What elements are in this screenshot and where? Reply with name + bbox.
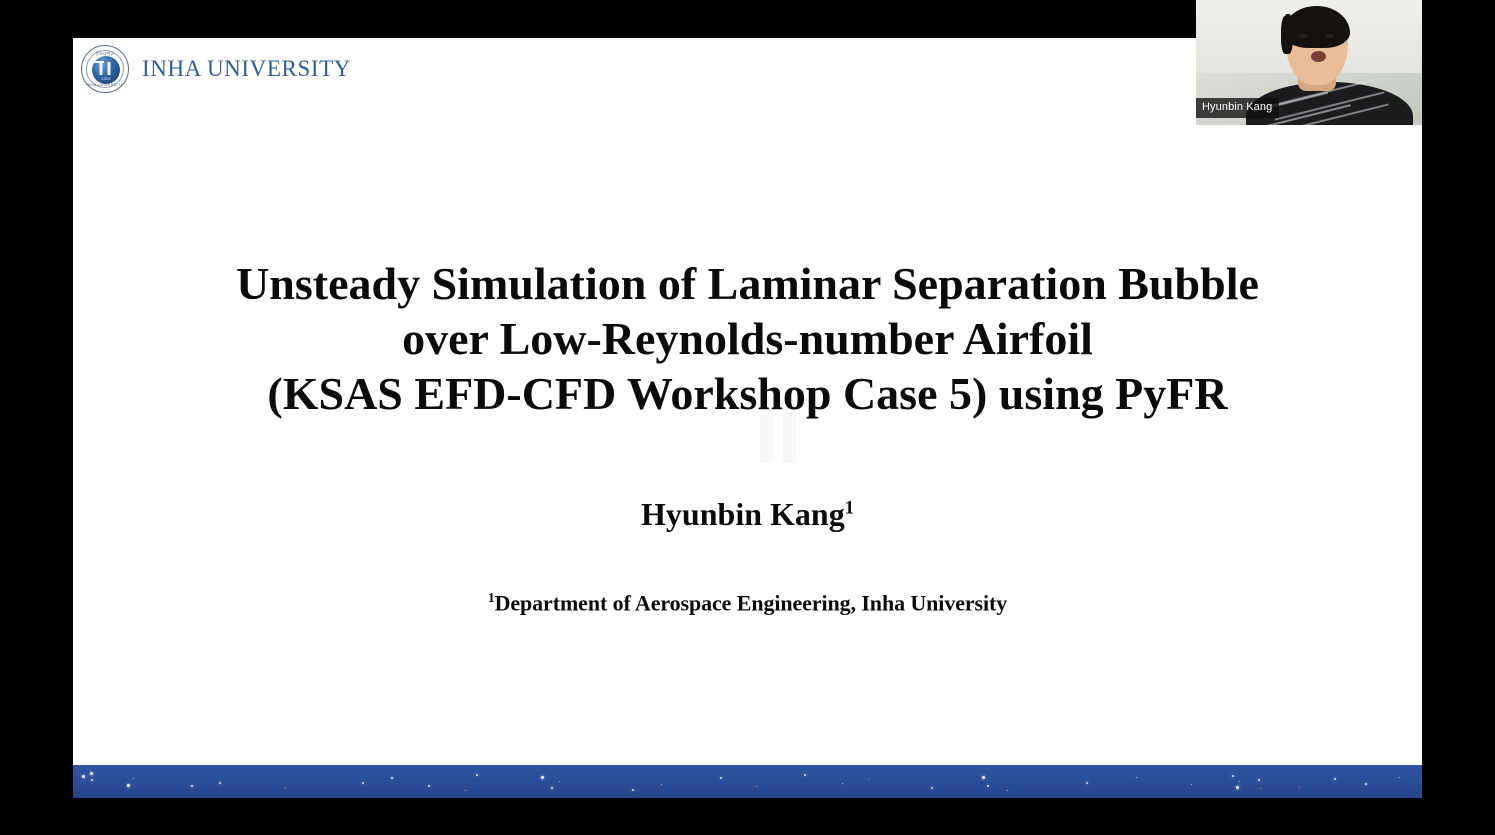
webcam-participant-name-label: Hyunbin Kang bbox=[1196, 98, 1279, 118]
footer-sparkle bbox=[1399, 777, 1400, 778]
slide-title-line-3: (KSAS EFD-CFD Workshop Case 5) using PyF… bbox=[93, 366, 1402, 421]
footer-sparkle bbox=[1260, 788, 1261, 789]
slide-title-line-2: over Low-Reynolds-number Airfoil bbox=[93, 311, 1402, 366]
footer-sparkle bbox=[1007, 790, 1008, 791]
footer-sparkle bbox=[476, 774, 478, 776]
footer-sparkle bbox=[90, 772, 93, 775]
webcam-person-eye-right bbox=[1325, 34, 1334, 38]
footer-sparkle bbox=[133, 778, 134, 779]
footer-sparkle bbox=[804, 774, 806, 776]
seal-founding-year: 1954 bbox=[92, 76, 120, 81]
footer-sparkle bbox=[632, 789, 634, 791]
footer-sparkle bbox=[127, 784, 130, 787]
affiliation-marker: 1 bbox=[488, 590, 495, 605]
footer-sparkle bbox=[465, 790, 466, 791]
footer-sparkle bbox=[1365, 783, 1367, 785]
seal-inner-shield: 1954 bbox=[92, 56, 120, 84]
webcam-person-eye-left bbox=[1299, 34, 1308, 38]
footer-sparkle bbox=[1086, 782, 1088, 784]
footer-sparkle bbox=[191, 785, 193, 787]
slide-author: Hyunbin Kang1 bbox=[73, 496, 1422, 533]
slide-brand-header: 인하대학교 INHA UNIVERSITY 1954 INHA UNIVERSI… bbox=[81, 45, 351, 93]
footer-sparkle bbox=[285, 787, 286, 788]
brand-name-text: INHA UNIVERSITY bbox=[142, 56, 351, 82]
footer-sparkle bbox=[1232, 775, 1234, 777]
footer-sparkle bbox=[720, 777, 722, 779]
footer-sparkle bbox=[756, 786, 757, 787]
footer-sparkle bbox=[1236, 786, 1239, 789]
footer-sparkle bbox=[428, 785, 430, 787]
footer-sparkle bbox=[91, 779, 93, 781]
screen-root: 인하대학교 INHA UNIVERSITY 1954 INHA UNIVERSI… bbox=[0, 0, 1495, 835]
author-affiliation-marker: 1 bbox=[845, 497, 854, 518]
footer-sparkle bbox=[559, 781, 560, 782]
seal-crossbar-glyph bbox=[93, 61, 104, 63]
slide-title-block: Unsteady Simulation of Laminar Separatio… bbox=[73, 256, 1422, 421]
footer-sparkle bbox=[219, 782, 221, 784]
affiliation-text: Department of Aerospace Engineering, Inh… bbox=[495, 590, 1008, 615]
footer-sparkle bbox=[541, 776, 544, 779]
presentation-slide: 인하대학교 INHA UNIVERSITY 1954 INHA UNIVERSI… bbox=[73, 38, 1422, 798]
inha-university-seal-icon: 인하대학교 INHA UNIVERSITY 1954 bbox=[81, 45, 129, 93]
footer-sparkle bbox=[1334, 778, 1336, 780]
seal-pillar-glyph bbox=[100, 62, 113, 75]
footer-sparkle bbox=[868, 779, 869, 780]
footer-sparkle bbox=[551, 787, 553, 789]
footer-sparkle bbox=[1258, 779, 1260, 781]
slide-affiliation: 1Department of Aerospace Engineering, In… bbox=[73, 590, 1422, 616]
webcam-person-hair-right bbox=[1281, 16, 1291, 54]
footer-sparkle bbox=[1239, 781, 1240, 782]
footer-sparkle bbox=[1136, 777, 1137, 778]
webcam-video-tile[interactable]: Hyunbin Kang bbox=[1196, 0, 1422, 125]
slide-footer-banner bbox=[73, 765, 1422, 798]
footer-sparkle bbox=[982, 776, 985, 779]
footer-sparkle bbox=[82, 775, 85, 778]
author-name: Hyunbin Kang bbox=[641, 496, 845, 532]
slide-title-line-1: Unsteady Simulation of Laminar Separatio… bbox=[93, 256, 1402, 311]
footer-sparkle bbox=[987, 785, 989, 787]
footer-sparkle bbox=[1191, 784, 1192, 785]
footer-sparkle bbox=[661, 784, 662, 785]
footer-sparkle bbox=[391, 777, 393, 779]
footer-sparkle bbox=[1299, 787, 1300, 788]
footer-sparkle bbox=[362, 782, 364, 784]
footer-sparkle bbox=[842, 783, 843, 784]
footer-sparkle bbox=[931, 787, 933, 789]
